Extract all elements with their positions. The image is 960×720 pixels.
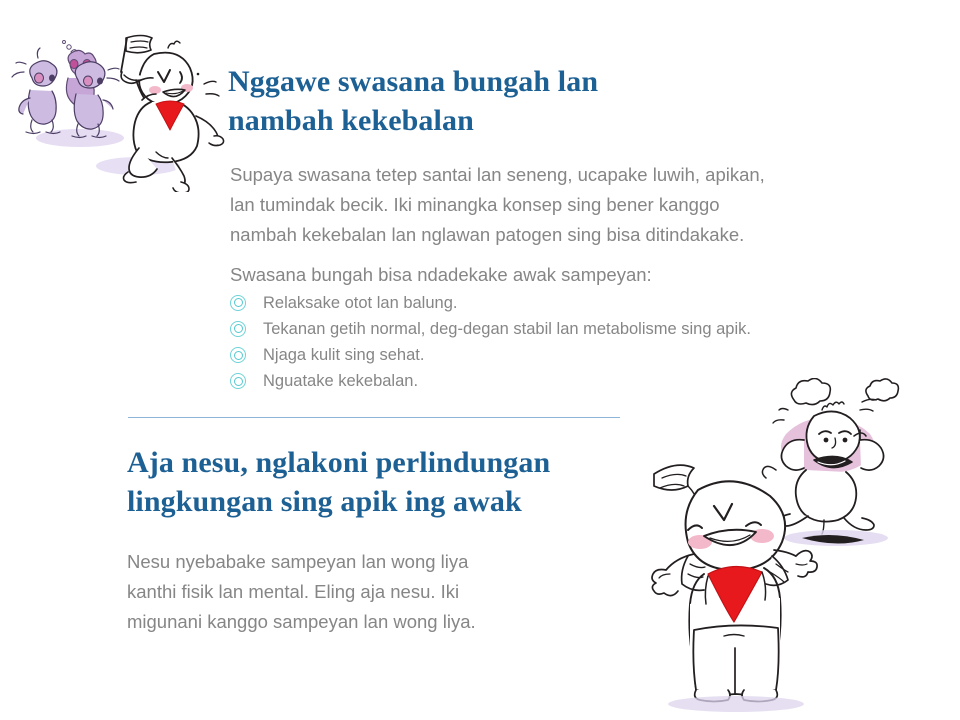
list-item: Relaksake otot lan balung. (230, 291, 940, 316)
double-ring-bullet-icon (230, 321, 248, 339)
section-two-heading: Aja nesu, nglakoni perlindungan lingkung… (127, 443, 687, 521)
section-one-paragraph: Supaya swasana tetep santai lan seneng, … (230, 160, 940, 250)
slide-canvas: Nggawe swasana bungah lan nambah kekebal… (0, 0, 960, 720)
list-item-label: Tekanan getih normal, deg-degan stabil l… (263, 320, 751, 338)
double-ring-bullet-icon (230, 295, 248, 313)
list-item: Njaga kulit sing sehat. (230, 343, 940, 368)
section-two-paragraph: Nesu nyebabake sampeyan lan wong liya ka… (127, 547, 597, 637)
section-one-list-block: Swasana bungah bisa ndadekake awak sampe… (230, 262, 940, 395)
list-item-label: Relaksake otot lan balung. (263, 294, 457, 312)
list-item-label: Nguatake kekebalan. (263, 372, 418, 390)
section-one-heading: Nggawe swasana bungah lan nambah kekebal… (228, 62, 748, 140)
double-ring-bullet-icon (230, 347, 248, 365)
list-item-label: Njaga kulit sing sehat. (263, 346, 424, 364)
cheerful-person-with-angry-steaming-figure-illustration (636, 378, 958, 714)
happy-person-with-flag-chasing-germs-illustration (8, 20, 226, 192)
list-intro-text: Swasana bungah bisa ndadekake awak sampe… (230, 262, 940, 289)
double-ring-bullet-icon (230, 373, 248, 391)
section-divider (128, 417, 620, 418)
list-item: Tekanan getih normal, deg-degan stabil l… (230, 317, 940, 342)
